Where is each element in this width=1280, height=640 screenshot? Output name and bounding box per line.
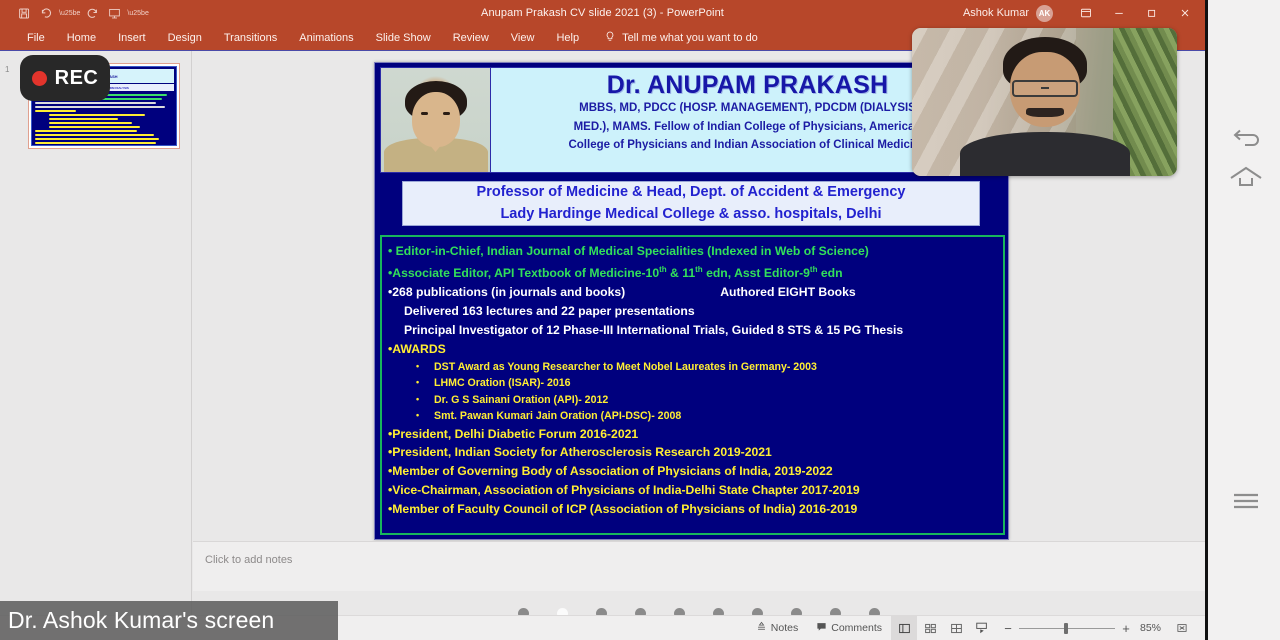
status-bar-right: Notes Comments: [747, 616, 1205, 640]
slideshow-view-icon[interactable]: [969, 616, 995, 640]
tab-home[interactable]: Home: [56, 26, 107, 50]
notes-button[interactable]: Notes: [747, 616, 807, 640]
close-icon[interactable]: [1168, 0, 1201, 26]
zoom-in-button[interactable]: +: [1121, 621, 1131, 636]
tab-transitions[interactable]: Transitions: [213, 26, 288, 50]
zoom-out-button[interactable]: −: [1003, 621, 1013, 636]
award-item-3: Dr. G S Sainani Oration (API)- 2012: [388, 392, 997, 409]
notes-icon: [756, 621, 767, 635]
reading-view-icon[interactable]: [943, 616, 969, 640]
line-investigator: Principal Investigator of 12 Phase-III I…: [388, 321, 997, 340]
thumbnail-slide-number: 1: [5, 65, 9, 74]
position-line-2: Lady Hardinge Medical College & asso. ho…: [500, 204, 881, 225]
bullet-associate-editor: •Associate Editor, API Textbook of Medic…: [388, 261, 997, 283]
home-icon[interactable]: [1208, 150, 1280, 204]
position-item-5: •Member of Faculty Council of ICP (Assoc…: [388, 500, 997, 519]
fit-slide-to-window-icon[interactable]: [1169, 616, 1195, 640]
award-item-1: DST Award as Young Researcher to Meet No…: [388, 359, 997, 376]
redo-icon[interactable]: [82, 3, 102, 23]
tab-help[interactable]: Help: [545, 26, 590, 50]
screen-share-text: Dr. Ashok Kumar's screen: [8, 607, 274, 634]
android-navigation-bar: [1205, 0, 1280, 640]
record-dot-icon: [32, 71, 47, 86]
tab-file[interactable]: File: [16, 26, 56, 50]
authored-books-label: Authored EIGHT Books: [625, 283, 855, 302]
restore-icon[interactable]: [1135, 0, 1168, 26]
awards-heading: •AWARDS: [388, 340, 997, 359]
avatar[interactable]: AK: [1036, 5, 1053, 22]
webcam-person-body: [960, 132, 1130, 176]
undo-icon[interactable]: [36, 3, 56, 23]
start-slideshow-icon[interactable]: [104, 3, 124, 23]
position-band[interactable]: Professor of Medicine & Head, Dept. of A…: [402, 181, 980, 226]
qat-more-icon[interactable]: \u25be: [127, 10, 148, 17]
bullet-publications: •268 publications (in journals and books…: [388, 283, 997, 302]
zoom-controls[interactable]: − + 85%: [995, 621, 1169, 636]
recording-label: REC: [55, 67, 99, 90]
zoom-slider[interactable]: [1019, 622, 1115, 634]
comments-button[interactable]: Comments: [807, 616, 891, 640]
ribbon-display-options-icon[interactable]: [1069, 0, 1102, 26]
account-name[interactable]: Ashok Kumar: [963, 7, 1029, 19]
title-bar: \u25be \u25be Anupam Prakash CV slide 20…: [0, 0, 1205, 26]
position-line-1: Professor of Medicine & Head, Dept. of A…: [477, 182, 906, 203]
comment-icon: [816, 621, 827, 635]
comments-label: Comments: [831, 622, 882, 634]
tab-view[interactable]: View: [500, 26, 546, 50]
position-item-4: •Vice-Chairman, Association of Physician…: [388, 481, 997, 500]
titlebar-right: Ashok Kumar AK: [963, 0, 1205, 26]
zoom-level-label[interactable]: 85%: [1137, 622, 1161, 634]
position-item-3: •Member of Governing Body of Association…: [388, 462, 997, 481]
webcam-video-overlay[interactable]: [912, 28, 1177, 176]
slide-thumbnail-pane[interactable]: 1 AM PRAKASH MANAGEMENT), PDCDM DIALYSIS: [0, 51, 192, 616]
award-item-2: LHMC Oration (ISAR)- 2016: [388, 375, 997, 392]
webcam-person-moustache: [1026, 108, 1064, 117]
minimize-icon[interactable]: [1102, 0, 1135, 26]
normal-view-icon[interactable]: [891, 616, 917, 640]
position-item-1: •President, Delhi Diabetic Forum 2016-20…: [388, 425, 997, 444]
undo-dropdown-icon[interactable]: \u25be: [59, 10, 80, 17]
quick-access-toolbar: \u25be \u25be: [0, 3, 149, 23]
line-lectures: Delivered 163 lectures and 22 paper pres…: [388, 302, 997, 321]
slide-sorter-view-icon[interactable]: [917, 616, 943, 640]
powerpoint-window: \u25be \u25be Anupam Prakash CV slide 20…: [0, 0, 1280, 640]
screen-share-label: Dr. Ashok Kumar's screen: [0, 601, 338, 640]
zoom-slider-handle[interactable]: [1064, 623, 1068, 634]
tab-animations[interactable]: Animations: [288, 26, 364, 50]
save-icon[interactable]: [14, 3, 34, 23]
tab-insert[interactable]: Insert: [107, 26, 157, 50]
tab-review[interactable]: Review: [442, 26, 500, 50]
tell-me-search[interactable]: Tell me what you want to do: [604, 30, 758, 46]
portrait-photo: [381, 68, 491, 172]
tab-design[interactable]: Design: [157, 26, 213, 50]
notes-placeholder: Click to add notes: [205, 554, 292, 566]
lightbulb-icon: [604, 30, 616, 46]
notes-pane[interactable]: Click to add notes: [193, 541, 1205, 591]
notes-label: Notes: [771, 622, 798, 634]
award-item-4: Smt. Pawan Kumari Jain Oration (API-DSC)…: [388, 408, 997, 425]
bullet-editor-in-chief: • Editor-in-Chief, Indian Journal of Med…: [388, 242, 997, 261]
webcam-person-glasses: [1012, 80, 1078, 97]
tab-slide-show[interactable]: Slide Show: [365, 26, 442, 50]
recording-badge[interactable]: REC: [20, 55, 110, 101]
tell-me-label: Tell me what you want to do: [622, 32, 758, 44]
position-item-2: •President, Indian Society for Atheroscl…: [388, 443, 997, 462]
menu-icon[interactable]: [1208, 474, 1280, 528]
achievements-box[interactable]: • Editor-in-Chief, Indian Journal of Med…: [380, 235, 1005, 535]
